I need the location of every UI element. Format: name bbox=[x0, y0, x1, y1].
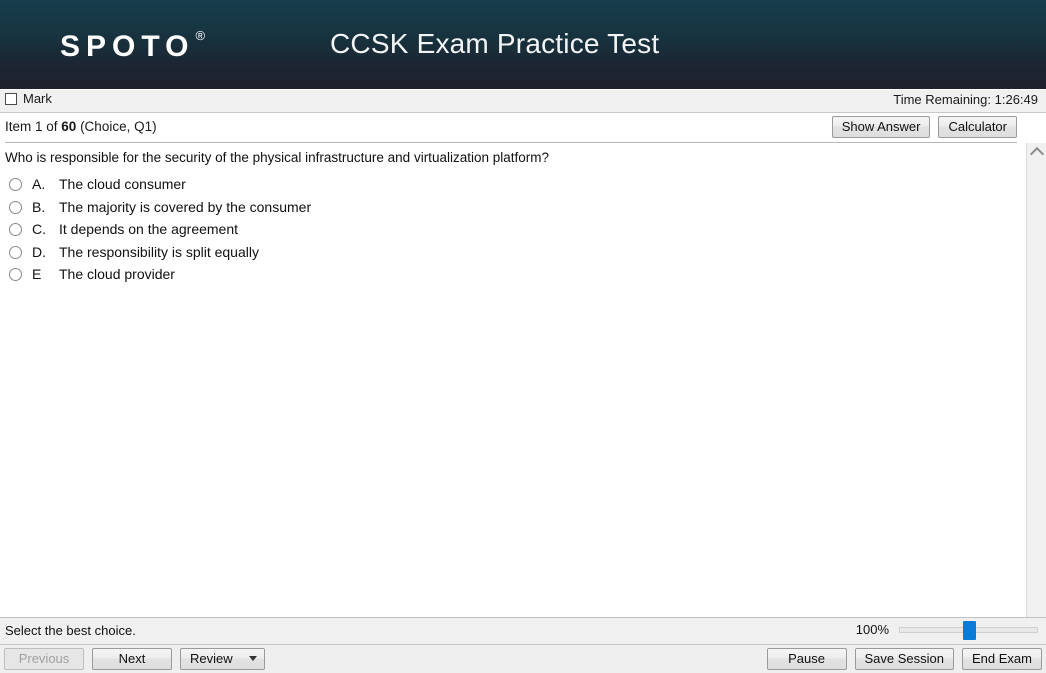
item-actions: Show Answer Calculator bbox=[832, 116, 1017, 138]
footer-actions: Pause Save Session End Exam bbox=[767, 648, 1042, 670]
choice-text-c: It depends on the agreement bbox=[59, 220, 238, 238]
question-content-area: Who is responsible for the security of t… bbox=[0, 143, 1046, 617]
item-counter: Item 1 of 60 (Choice, Q1) bbox=[5, 119, 157, 135]
registered-trademark-icon: ® bbox=[195, 28, 205, 43]
pause-button[interactable]: Pause bbox=[767, 648, 847, 670]
zoom-slider-thumb[interactable] bbox=[963, 621, 976, 640]
scroll-up-button[interactable] bbox=[1027, 143, 1046, 160]
instruction-text: Select the best choice. bbox=[5, 623, 136, 639]
radio-button-d[interactable] bbox=[9, 246, 22, 259]
question-text: Who is responsible for the security of t… bbox=[5, 149, 1006, 167]
item-counter-prefix: Item 1 of bbox=[5, 119, 61, 134]
logo-text: SPOTO bbox=[60, 30, 194, 63]
exam-application: SPOTO® CCSK Exam Practice Test Mark Time… bbox=[0, 0, 1046, 673]
item-total: 60 bbox=[61, 119, 76, 134]
footer-bar: Previous Next Review Pause Save Session … bbox=[0, 645, 1046, 673]
choice-letter-d: D. bbox=[32, 243, 59, 261]
previous-button[interactable]: Previous bbox=[4, 648, 84, 670]
choice-letter-a: A. bbox=[32, 175, 59, 193]
spoto-logo: SPOTO® bbox=[60, 26, 204, 62]
choice-option-e[interactable]: E The cloud provider bbox=[9, 265, 1006, 288]
choice-text-e: The cloud provider bbox=[59, 265, 175, 283]
calculator-button[interactable]: Calculator bbox=[938, 116, 1017, 138]
page-title: CCSK Exam Practice Test bbox=[330, 27, 659, 61]
choice-list: A. The cloud consumer B. The majority is… bbox=[9, 175, 1006, 288]
save-session-button[interactable]: Save Session bbox=[855, 648, 955, 670]
item-info-bar: Item 1 of 60 (Choice, Q1) Show Answer Ca… bbox=[0, 113, 1046, 143]
footer-navigation: Previous Next Review bbox=[4, 648, 265, 670]
choice-text-b: The majority is covered by the consumer bbox=[59, 198, 311, 216]
time-remaining: Time Remaining: 1:26:49 bbox=[893, 92, 1038, 107]
item-counter-suffix: (Choice, Q1) bbox=[76, 119, 156, 134]
review-button-label: Review bbox=[190, 651, 233, 666]
radio-button-e[interactable] bbox=[9, 268, 22, 281]
zoom-level-label: 100% bbox=[856, 621, 889, 638]
zoom-control: 100% bbox=[856, 621, 1038, 638]
show-answer-button[interactable]: Show Answer bbox=[832, 116, 931, 138]
app-header: SPOTO® CCSK Exam Practice Test bbox=[0, 0, 1046, 89]
choice-option-c[interactable]: C. It depends on the agreement bbox=[9, 220, 1006, 243]
mark-label: Mark bbox=[23, 92, 52, 105]
mark-checkbox[interactable] bbox=[5, 93, 17, 105]
vertical-scrollbar[interactable] bbox=[1026, 143, 1046, 617]
radio-button-c[interactable] bbox=[9, 223, 22, 236]
chevron-down-icon bbox=[249, 656, 257, 661]
next-button[interactable]: Next bbox=[92, 648, 172, 670]
choice-option-b[interactable]: B. The majority is covered by the consum… bbox=[9, 198, 1006, 221]
status-bar: Select the best choice. 100% bbox=[0, 617, 1046, 645]
choice-text-d: The responsibility is split equally bbox=[59, 243, 259, 261]
mark-checkbox-group[interactable]: Mark bbox=[5, 92, 52, 105]
choice-text-a: The cloud consumer bbox=[59, 175, 186, 193]
choice-letter-e: E bbox=[32, 265, 59, 283]
radio-button-a[interactable] bbox=[9, 178, 22, 191]
zoom-slider[interactable] bbox=[899, 621, 1038, 638]
chevron-up-icon bbox=[1029, 146, 1043, 160]
choice-option-d[interactable]: D. The responsibility is split equally bbox=[9, 243, 1006, 266]
radio-button-b[interactable] bbox=[9, 201, 22, 214]
choice-letter-b: B. bbox=[32, 198, 59, 216]
choice-letter-c: C. bbox=[32, 220, 59, 238]
mark-bar: Mark Time Remaining: 1:26:49 bbox=[0, 89, 1046, 113]
choice-option-a[interactable]: A. The cloud consumer bbox=[9, 175, 1006, 198]
review-button[interactable]: Review bbox=[180, 648, 265, 670]
end-exam-button[interactable]: End Exam bbox=[962, 648, 1042, 670]
